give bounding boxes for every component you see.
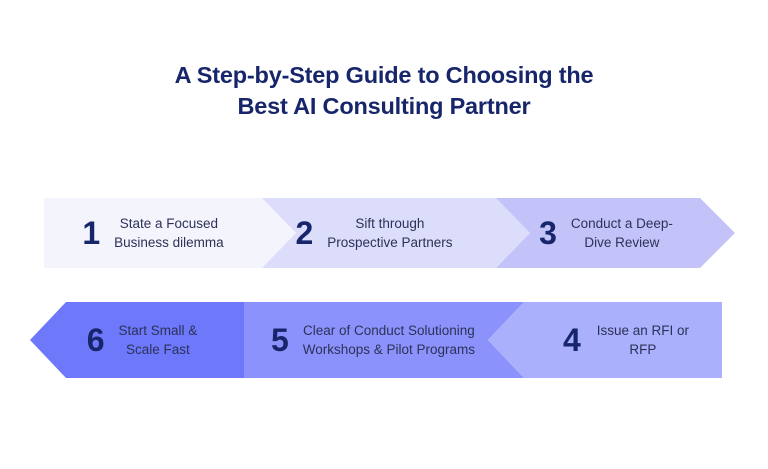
flow-step-4-number: 4 — [563, 324, 581, 356]
flow-step-4[interactable]: 4 Issue an RFI or RFP — [528, 302, 724, 378]
page-title: A Step-by-Step Guide to Choosing the Bes… — [0, 60, 768, 122]
flow-step-6-label-line-1: Start Small & — [119, 323, 198, 338]
flow-step-3-label: Conduct a Deep- Dive Review — [571, 214, 673, 252]
flow-row-backward: 6 Start Small & Scale Fast 5 Clear of Co… — [0, 302, 768, 378]
flow-step-1-label-line-2: Business dilemma — [114, 235, 224, 250]
page-title-line-2: Best AI Consulting Partner — [0, 91, 768, 122]
flow-step-3[interactable]: 3 Conduct a Deep- Dive Review — [500, 198, 712, 268]
flow-step-1-label: State a Focused Business dilemma — [114, 214, 224, 252]
flow-step-6-label-line-2: Scale Fast — [126, 342, 190, 357]
flow-step-2-label-line-1: Sift through — [355, 216, 424, 231]
page-title-line-1: A Step-by-Step Guide to Choosing the — [0, 60, 768, 91]
flow-step-1-number: 1 — [82, 217, 100, 249]
flow-step-5[interactable]: 5 Clear of Conduct Solutioning Workshops… — [228, 302, 518, 378]
flow-row-forward: 1 State a Focused Business dilemma 2 Sif… — [0, 198, 768, 268]
flow-step-1[interactable]: 1 State a Focused Business dilemma — [48, 198, 258, 268]
flow-step-2-label-line-2: Prospective Partners — [327, 235, 452, 250]
flow-step-6[interactable]: 6 Start Small & Scale Fast — [48, 302, 236, 378]
flow-step-2-label: Sift through Prospective Partners — [327, 214, 452, 252]
flow-step-5-label-line-2: Workshops & Pilot Programs — [303, 342, 475, 357]
flow-step-4-label-line-1: Issue an RFI or — [597, 323, 689, 338]
flow-step-4-label: Issue an RFI or RFP — [597, 321, 689, 359]
flow-step-2[interactable]: 2 Sift through Prospective Partners — [268, 198, 480, 268]
flow-step-3-label-line-1: Conduct a Deep- — [571, 216, 673, 231]
infographic-canvas: A Step-by-Step Guide to Choosing the Bes… — [0, 0, 768, 469]
flow-row-backward-steps: 6 Start Small & Scale Fast 5 Clear of Co… — [0, 302, 768, 378]
flow-step-5-label: Clear of Conduct Solutioning Workshops &… — [303, 321, 475, 359]
flow-step-6-label: Start Small & Scale Fast — [119, 321, 198, 359]
flow-step-1-label-line-1: State a Focused — [120, 216, 218, 231]
flow-step-4-label-line-2: RFP — [629, 342, 656, 357]
flow-step-6-number: 6 — [87, 324, 105, 356]
flow-step-5-label-line-1: Clear of Conduct Solutioning — [303, 323, 475, 338]
flow-step-3-number: 3 — [539, 217, 557, 249]
flow-row-forward-steps: 1 State a Focused Business dilemma 2 Sif… — [0, 198, 768, 268]
flow-step-2-number: 2 — [295, 217, 313, 249]
flow-step-3-label-line-2: Dive Review — [584, 235, 659, 250]
flow-step-5-number: 5 — [271, 324, 289, 356]
